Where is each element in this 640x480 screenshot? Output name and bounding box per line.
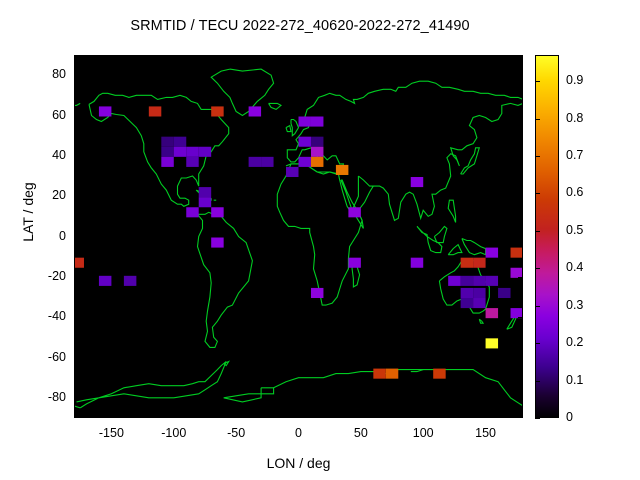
heatmap-cell: [373, 369, 385, 379]
x-tick: [423, 413, 424, 418]
coastline-path: [448, 245, 462, 255]
x-tick-label: 150: [456, 426, 516, 440]
y-tick: [74, 116, 79, 117]
heatmap-cell: [511, 248, 523, 258]
heatmap-cell: [473, 288, 485, 298]
y-tick-label: -60: [26, 350, 66, 364]
heatmap-cell: [348, 258, 360, 268]
colorbar-tick: [535, 381, 540, 382]
y-tick: [518, 277, 523, 278]
heatmap-cell: [161, 157, 173, 167]
heatmap-cell: [299, 157, 311, 167]
x-tick: [361, 55, 362, 60]
heatmap-cell: [261, 157, 273, 167]
y-tick-label: 80: [26, 67, 66, 81]
coastline-path: [198, 212, 253, 347]
y-tick: [518, 237, 523, 238]
x-tick-label: -100: [144, 426, 204, 440]
coastline-path: [448, 200, 455, 222]
colorbar-tick-label: 0: [566, 410, 573, 424]
heatmap-cell: [299, 117, 311, 127]
heatmap-cell: [186, 207, 198, 217]
heatmap-cell: [411, 258, 423, 268]
y-tick: [518, 116, 523, 117]
y-tick: [518, 358, 523, 359]
y-tick: [74, 156, 79, 157]
heatmap-cell: [486, 248, 498, 258]
x-tick: [111, 413, 112, 418]
x-tick: [236, 413, 237, 418]
heatmap-cell: [286, 167, 298, 177]
coastline-map: [74, 55, 523, 418]
heatmap-cell: [249, 106, 261, 116]
x-tick: [111, 55, 112, 60]
colorbar-tick: [535, 231, 540, 232]
heatmap-cell: [311, 147, 323, 157]
y-axis-label: LAT / deg: [20, 132, 36, 292]
colorbar-tick-label: 0.5: [566, 223, 583, 237]
x-tick: [486, 55, 487, 60]
heatmap-cell: [299, 137, 311, 147]
map-plot-area[interactable]: [74, 55, 523, 418]
x-tick-label: 50: [331, 426, 391, 440]
y-tick: [74, 358, 79, 359]
y-tick-label: -80: [26, 390, 66, 404]
plot-canvas: SRMTID / TECU 2022-272_40620-2022-272_41…: [0, 0, 640, 480]
heatmap-cell: [211, 106, 223, 116]
colorbar-tick: [535, 306, 540, 307]
heatmap-cell: [461, 298, 473, 308]
y-tick: [518, 317, 523, 318]
x-tick-label: 100: [393, 426, 453, 440]
y-tick: [518, 75, 523, 76]
colorbar-tick-label: 0.6: [566, 185, 583, 199]
heatmap-cell: [461, 288, 473, 298]
y-tick: [518, 156, 523, 157]
colorbar-tick: [535, 156, 540, 157]
x-axis-label: LON / deg: [74, 455, 523, 471]
y-tick: [74, 196, 79, 197]
coastline-path: [77, 362, 227, 408]
x-tick-label: -150: [81, 426, 141, 440]
coastline-path: [224, 388, 274, 402]
colorbar-tick: [535, 268, 540, 269]
colorbar-tick-label: 0.2: [566, 335, 583, 349]
y-tick: [518, 196, 523, 197]
coastline-path: [417, 226, 442, 252]
colorbar-tick: [535, 119, 540, 120]
heatmap-cell: [311, 137, 323, 147]
heatmap-cell: [161, 147, 173, 157]
heatmap-cell: [461, 276, 473, 286]
y-tick: [74, 237, 79, 238]
coastline-path: [74, 406, 80, 408]
heatmap-cell: [311, 117, 323, 127]
x-tick: [299, 413, 300, 418]
heatmap-cell: [473, 298, 485, 308]
colorbar-tick-label: 0.7: [566, 148, 583, 162]
x-tick: [423, 55, 424, 60]
x-tick: [174, 55, 175, 60]
coastline-path: [277, 164, 362, 305]
x-tick: [361, 413, 362, 418]
colorbar-tick: [535, 343, 540, 344]
heatmap-cell: [348, 207, 360, 217]
heatmap-cell: [498, 288, 510, 298]
heatmap-cell: [311, 288, 323, 298]
colorbar-tick: [535, 193, 540, 194]
coastline-path: [479, 319, 483, 323]
heatmap-cell: [199, 147, 211, 157]
heatmap-cell: [174, 147, 186, 157]
plot-title: SRMTID / TECU 2022-272_40620-2022-272_41…: [0, 18, 600, 34]
heatmap-cell: [473, 258, 485, 268]
heatmap-cell: [199, 187, 211, 197]
coastline-path: [269, 103, 281, 109]
heatmap-cell: [486, 308, 498, 318]
colorbar-tick-label: 0.8: [566, 111, 583, 125]
heatmap-cell: [386, 369, 398, 379]
colorbar-tick-label: 0.9: [566, 73, 583, 87]
x-tick: [486, 413, 487, 418]
y-tick-label: -40: [26, 309, 66, 323]
heatmap-cell: [249, 157, 261, 167]
coastline-path: [274, 370, 523, 406]
heatmap-cell: [199, 197, 211, 207]
x-tick: [236, 55, 237, 60]
coastline-path: [291, 120, 299, 136]
y-tick: [518, 398, 523, 399]
coastline-path: [434, 226, 447, 242]
heatmap-cell: [186, 157, 198, 167]
coastline-path: [74, 103, 80, 105]
x-tick: [299, 55, 300, 60]
heatmap-cell: [311, 157, 323, 167]
heatmap-cell: [99, 276, 111, 286]
colorbar-tick-label: 0.3: [566, 298, 583, 312]
heatmap-cell: [174, 137, 186, 147]
heatmap-cell: [411, 177, 423, 187]
heatmap-cell: [461, 258, 473, 268]
y-tick: [74, 317, 79, 318]
heatmap-cell: [433, 369, 445, 379]
heatmap-cell: [473, 276, 485, 286]
colorbar-tick: [535, 81, 540, 82]
heatmap-cell: [486, 276, 498, 286]
heatmap-cell: [161, 137, 173, 147]
coastline-path: [461, 148, 480, 174]
coastline-path: [286, 126, 291, 132]
heatmap-cell: [448, 276, 460, 286]
heatmap-cell: [211, 238, 223, 248]
heatmap-cell: [124, 276, 136, 286]
heatmap-cell: [186, 147, 198, 157]
y-tick: [74, 277, 79, 278]
y-tick: [74, 75, 79, 76]
coastline-path: [462, 239, 486, 255]
colorbar-tick-label: 0.4: [566, 260, 583, 274]
coastline-path: [341, 180, 364, 228]
coastline-path: [373, 103, 523, 220]
heatmap-cell: [149, 106, 161, 116]
y-tick-label: 60: [26, 108, 66, 122]
heatmap-cell: [74, 258, 84, 268]
colorbar-tick-label: 0.1: [566, 373, 583, 387]
heatmap-cell: [211, 207, 223, 217]
heatmap-cell: [99, 106, 111, 116]
heatmap-cell: [336, 165, 348, 175]
heatmap-cell: [486, 338, 498, 348]
colorbar-gradient: [535, 55, 559, 418]
x-tick: [174, 413, 175, 418]
x-tick-label: 0: [269, 426, 329, 440]
colorbar-tick: [535, 418, 540, 419]
x-tick-label: -50: [206, 426, 266, 440]
y-tick: [74, 398, 79, 399]
